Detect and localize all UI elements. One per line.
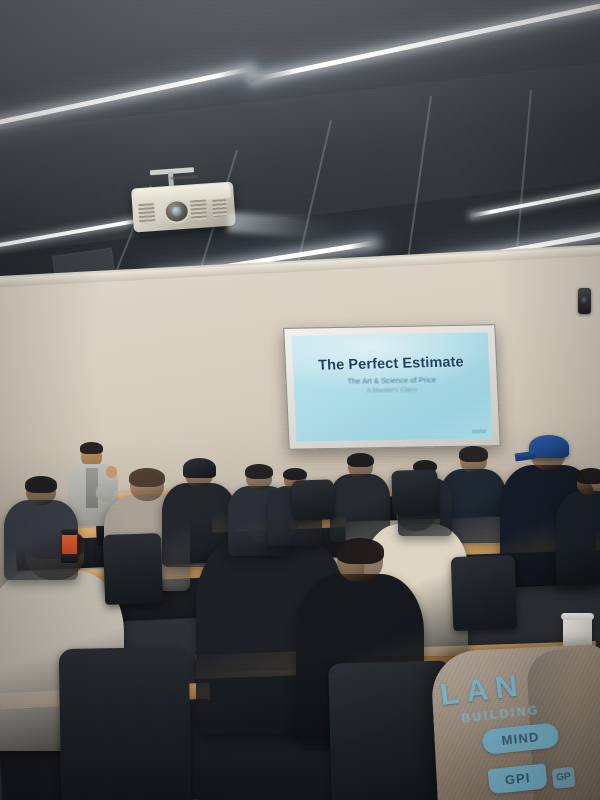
projector-vent-left	[138, 203, 155, 224]
classroom-photo: The Perfect Estimate The Art & Science o…	[0, 0, 600, 800]
projector-vent-right	[190, 199, 207, 220]
attendee-navy-right-hair-icon	[459, 446, 488, 462]
slide-surface: The Perfect Estimate The Art & Science o…	[292, 332, 493, 441]
attendee-tan-shirt-hair-icon	[129, 468, 165, 487]
black-baseball-cap	[183, 458, 216, 478]
projector-body	[131, 182, 236, 233]
projector-lens-glass	[171, 206, 182, 217]
projector-vent-far	[212, 199, 227, 217]
attendee-dark-left-hair-icon	[25, 476, 57, 493]
chair-back-center	[391, 469, 439, 515]
wall-speaker-icon	[578, 288, 591, 314]
chair-foreground-left	[59, 647, 192, 800]
ceiling-projector	[131, 182, 237, 249]
attendee-far-right-torso	[556, 491, 600, 587]
chair-back-right	[291, 479, 334, 520]
attendee-front-dark-hair-icon	[336, 538, 384, 564]
slide-corner-mark	[472, 429, 486, 433]
presenter-hair-icon	[80, 442, 103, 454]
projection-screen: The Perfect Estimate The Art & Science o…	[283, 324, 501, 450]
attendee-far-right	[556, 470, 600, 566]
attendee-far-right-hair-icon	[576, 468, 600, 484]
attendee-row2-left-hair-icon	[347, 453, 374, 467]
chair-mid-left	[103, 533, 163, 605]
chair-mid-right	[451, 555, 518, 631]
orange-tumbler	[62, 533, 77, 556]
sweatshirt-badge-secondary: GP	[552, 767, 576, 789]
attendee-row3-a-hair-icon	[283, 468, 307, 480]
projector-lens	[163, 199, 191, 225]
draped-sweatshirt: LAN BUILDING MIND GPI GP	[430, 644, 600, 800]
